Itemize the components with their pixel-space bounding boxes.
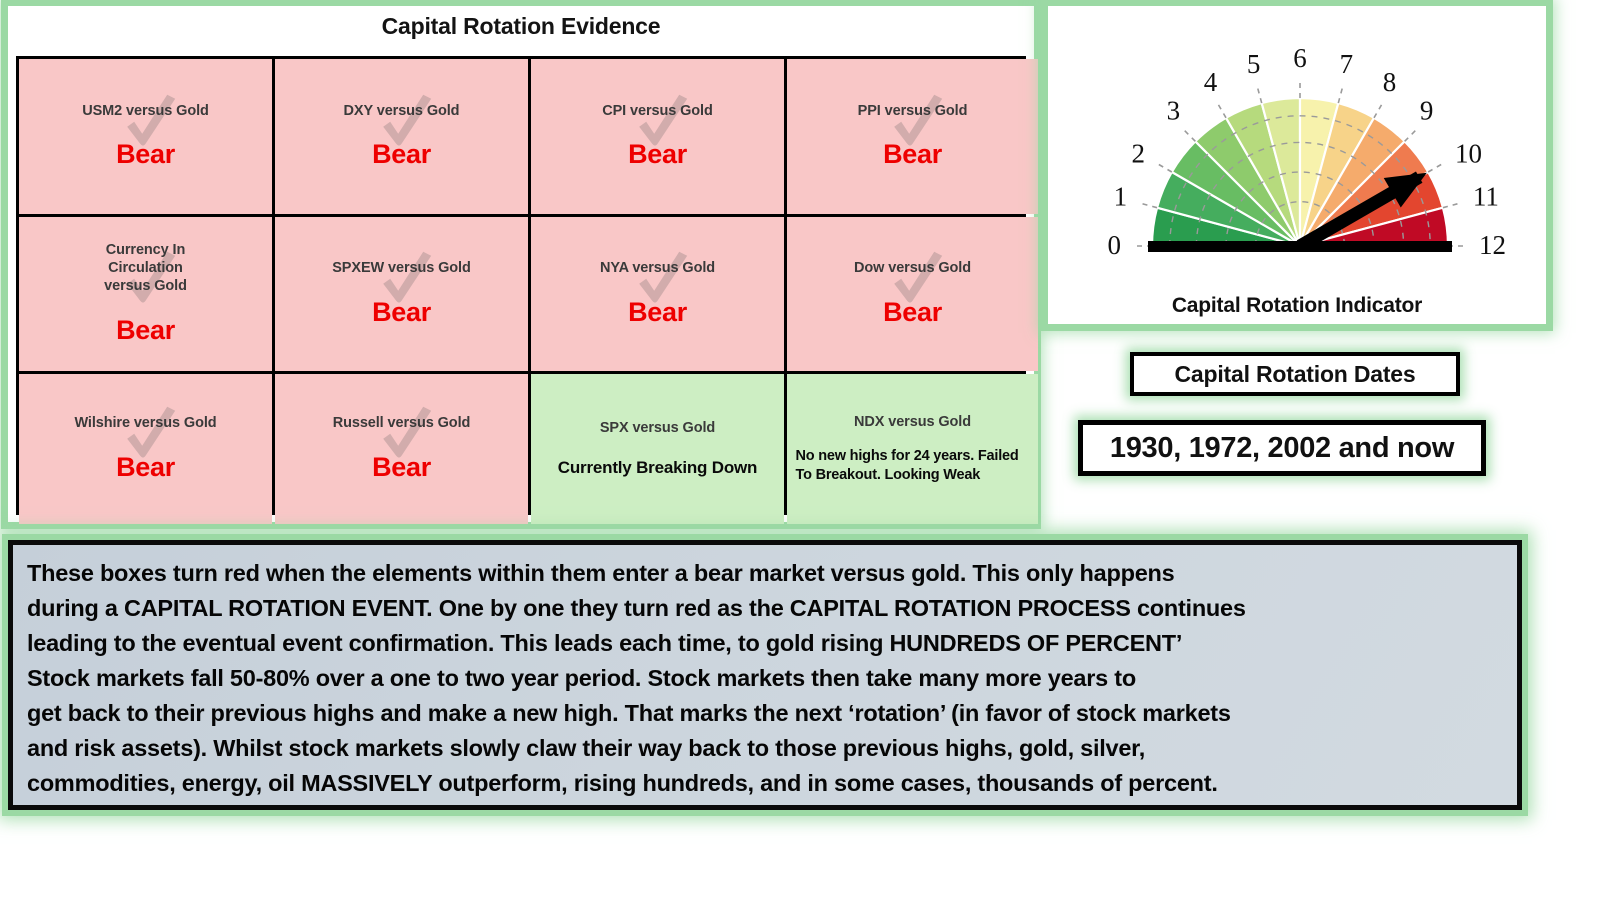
gauge-tick-label: 7 (1340, 49, 1354, 79)
gauge-tick-label: 11 (1473, 182, 1499, 212)
capital-rotation-dates-title: Capital Rotation Dates (1175, 361, 1416, 388)
evidence-cell-status: Bear (116, 315, 175, 346)
evidence-cell-status: Bear (116, 139, 175, 170)
evidence-cell[interactable]: USM2 versus GoldBear (19, 59, 272, 214)
evidence-cell-label: NYA versus Gold (600, 260, 715, 278)
gauge-tick-label: 9 (1420, 95, 1434, 125)
evidence-cell-label: CPI versus Gold (602, 103, 713, 121)
gauge-tick-label: 3 (1167, 95, 1181, 125)
gauge-tick-label: 10 (1455, 139, 1482, 169)
evidence-cell-label: USM2 versus Gold (82, 103, 209, 121)
explanation-panel: These boxes turn red when the elements w… (8, 540, 1522, 810)
gauge-chart: 0123456789101112 (1048, 6, 1546, 296)
evidence-cell-status: Bear (372, 452, 431, 483)
evidence-cell[interactable]: Russell versus GoldBear (275, 374, 528, 524)
evidence-cell-label: Currency In Circulation versus Gold (104, 242, 187, 295)
gauge-tick-label: 0 (1108, 230, 1122, 260)
evidence-cell[interactable]: Wilshire versus GoldBear (19, 374, 272, 524)
evidence-cell-status: Bear (628, 139, 687, 170)
evidence-cell-label: SPXEW versus Gold (332, 260, 471, 278)
capital-rotation-evidence-panel: Capital Rotation Evidence USM2 versus Go… (8, 6, 1034, 522)
gauge-tick-label: 4 (1204, 67, 1218, 97)
gauge-tick (1216, 101, 1226, 118)
evidence-cell[interactable]: NYA versus GoldBear (531, 217, 784, 371)
evidence-cell-label: Russell versus Gold (333, 415, 471, 433)
evidence-cell-label: SPX versus Gold (600, 420, 715, 438)
evidence-cell[interactable]: SPX versus GoldCurrently Breaking Down (531, 374, 784, 524)
evidence-cell-status: Bear (628, 297, 687, 328)
capital-rotation-dates-title-box: Capital Rotation Dates (1130, 352, 1460, 396)
capital-rotation-dates-value-box: 1930, 1972, 2002 and now (1078, 420, 1486, 476)
gauge-tick (1155, 162, 1172, 172)
evidence-cell-label: Dow versus Gold (854, 260, 971, 278)
evidence-cell-label: DXY versus Gold (344, 103, 460, 121)
evidence-cell[interactable]: Currency In Circulation versus GoldBear (19, 217, 272, 371)
evidence-cell-label: NDX versus Gold (854, 414, 971, 432)
evidence-cell[interactable]: NDX versus GoldNo new highs for 24 years… (787, 374, 1038, 524)
evidence-cell-status: No new highs for 24 years. Failed To Bre… (787, 447, 1038, 484)
gauge-tick (1443, 203, 1462, 208)
capital-rotation-indicator-panel: 0123456789101112 Capital Rotation Indica… (1048, 6, 1546, 324)
infographic-root: Capital Rotation Evidence USM2 versus Go… (0, 0, 1600, 900)
gauge-tick (1428, 162, 1445, 172)
gauge-tick (1182, 128, 1196, 142)
evidence-cell-label: Wilshire versus Gold (74, 415, 216, 433)
evidence-cell-label: PPI versus Gold (858, 103, 968, 121)
evidence-cell[interactable]: PPI versus GoldBear (787, 59, 1038, 214)
gauge-tick (1138, 203, 1157, 208)
evidence-cell-status: Bear (372, 139, 431, 170)
evidence-cell[interactable]: Dow versus GoldBear (787, 217, 1038, 371)
gauge-tick-label: 6 (1293, 43, 1307, 73)
evidence-panel-title: Capital Rotation Evidence (8, 6, 1034, 42)
evidence-cell-status: Bear (372, 297, 431, 328)
evidence-cell[interactable]: SPXEW versus GoldBear (275, 217, 528, 371)
gauge-tick (1257, 84, 1262, 103)
evidence-cell[interactable]: DXY versus GoldBear (275, 59, 528, 214)
evidence-cell-status: Bear (883, 297, 942, 328)
gauge-tick (1405, 128, 1419, 142)
explanation-text: These boxes turn red when the elements w… (27, 556, 1503, 801)
evidence-cell-status: Bear (116, 452, 175, 483)
gauge-caption: Capital Rotation Indicator (1048, 294, 1546, 318)
capital-rotation-dates-value: 1930, 1972, 2002 and now (1110, 432, 1454, 465)
evidence-grid: USM2 versus GoldBearDXY versus GoldBearC… (16, 56, 1026, 515)
gauge-tick-label: 8 (1383, 67, 1397, 97)
evidence-cell[interactable]: CPI versus GoldBear (531, 59, 784, 214)
gauge-tick-label: 12 (1479, 230, 1506, 260)
gauge-tick-label: 5 (1247, 49, 1261, 79)
evidence-cell-status: Currently Breaking Down (558, 458, 757, 478)
gauge-tick-label: 2 (1131, 139, 1145, 169)
gauge-tick (1338, 84, 1343, 103)
evidence-cell-status: Bear (883, 139, 942, 170)
gauge-tick-label: 1 (1114, 182, 1128, 212)
gauge-tick (1374, 101, 1384, 118)
